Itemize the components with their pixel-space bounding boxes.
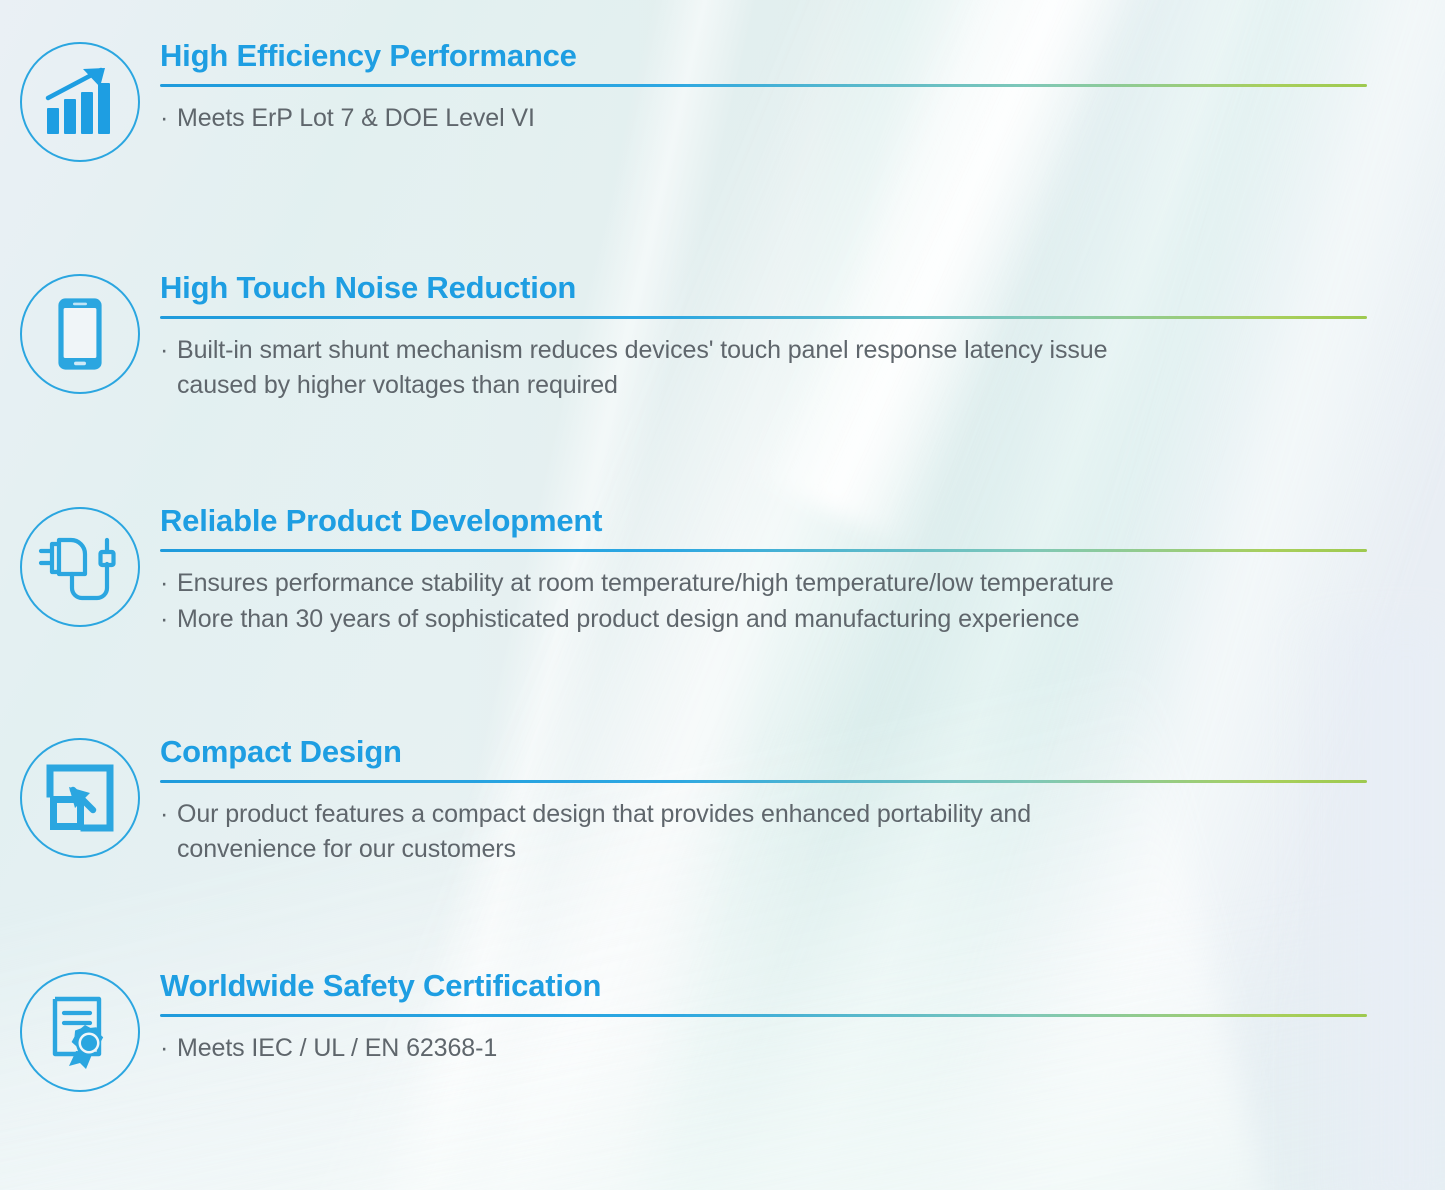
feature-title: Compact Design: [160, 734, 1367, 771]
feature-icon-wrap: [0, 734, 160, 858]
feature-divider: [160, 316, 1367, 319]
bullet-text: Our product features a compact design th…: [177, 797, 1367, 867]
feature-highlights-page: High Efficiency Performance · Meets ErP …: [0, 0, 1445, 1190]
feature-bullets: · Ensures performance stability at room …: [160, 566, 1367, 637]
bullet-text: Built-in smart shunt mechanism reduces d…: [177, 333, 1367, 403]
feature-body: High Efficiency Performance · Meets ErP …: [160, 38, 1445, 136]
feature-body: Reliable Product Development · Ensures p…: [160, 503, 1445, 637]
feature-body: Compact Design · Our product features a …: [160, 734, 1445, 867]
bullet-line: Built-in smart shunt mechanism reduces d…: [177, 336, 1107, 364]
feature-bullets: · Our product features a compact design …: [160, 797, 1367, 867]
feature-item: Worldwide Safety Certification · Meets I…: [0, 968, 1445, 1148]
feature-body: High Touch Noise Reduction · Built-in sm…: [160, 270, 1445, 403]
feature-icon-wrap: [0, 38, 160, 162]
bullet-line: caused by higher voltages than required: [177, 368, 1367, 403]
feature-title: Reliable Product Development: [160, 503, 1367, 540]
bullet-marker: ·: [160, 797, 177, 867]
power-adapter-icon: [20, 507, 140, 627]
feature-divider: [160, 84, 1367, 87]
feature-divider: [160, 780, 1367, 783]
bullet-line: convenience for our customers: [177, 832, 1367, 867]
feature-bullets: · Meets IEC / UL / EN 62368-1: [160, 1031, 1367, 1066]
feature-icon-wrap: [0, 270, 160, 394]
bullet-item: · Meets ErP Lot 7 & DOE Level VI: [160, 101, 1367, 136]
feature-item: High Efficiency Performance · Meets ErP …: [0, 38, 1445, 270]
bullet-marker: ·: [160, 566, 177, 601]
bullet-item: · Ensures performance stability at room …: [160, 566, 1367, 601]
bar-chart-growth-icon: [20, 42, 140, 162]
bullet-item: · Meets IEC / UL / EN 62368-1: [160, 1031, 1367, 1066]
feature-bullets: · Meets ErP Lot 7 & DOE Level VI: [160, 101, 1367, 136]
feature-item: Compact Design · Our product features a …: [0, 734, 1445, 968]
bullet-text: Meets IEC / UL / EN 62368-1: [177, 1031, 1367, 1066]
bullet-marker: ·: [160, 602, 177, 637]
certificate-seal-icon: [20, 972, 140, 1092]
bullet-marker: ·: [160, 333, 177, 403]
bullet-item: · Our product features a compact design …: [160, 797, 1367, 867]
bullet-marker: ·: [160, 101, 177, 136]
bullet-item: · Built-in smart shunt mechanism reduces…: [160, 333, 1367, 403]
bullet-text: Meets ErP Lot 7 & DOE Level VI: [177, 101, 1367, 136]
bullet-item: · More than 30 years of sophisticated pr…: [160, 602, 1367, 637]
feature-title: High Efficiency Performance: [160, 38, 1367, 75]
feature-item: Reliable Product Development · Ensures p…: [0, 503, 1445, 734]
feature-divider: [160, 1014, 1367, 1017]
bullet-text: More than 30 years of sophisticated prod…: [177, 602, 1367, 637]
feature-item: High Touch Noise Reduction · Built-in sm…: [0, 270, 1445, 503]
smartphone-icon: [20, 274, 140, 394]
compact-resize-icon: [20, 738, 140, 858]
feature-icon-wrap: [0, 968, 160, 1092]
bullet-line: Our product features a compact design th…: [177, 800, 1031, 828]
feature-body: Worldwide Safety Certification · Meets I…: [160, 968, 1445, 1066]
feature-icon-wrap: [0, 503, 160, 627]
feature-title: Worldwide Safety Certification: [160, 968, 1367, 1005]
feature-bullets: · Built-in smart shunt mechanism reduces…: [160, 333, 1367, 403]
feature-title: High Touch Noise Reduction: [160, 270, 1367, 307]
bullet-text: Ensures performance stability at room te…: [177, 566, 1367, 601]
feature-list: High Efficiency Performance · Meets ErP …: [0, 0, 1445, 1148]
bullet-marker: ·: [160, 1031, 177, 1066]
feature-divider: [160, 549, 1367, 552]
